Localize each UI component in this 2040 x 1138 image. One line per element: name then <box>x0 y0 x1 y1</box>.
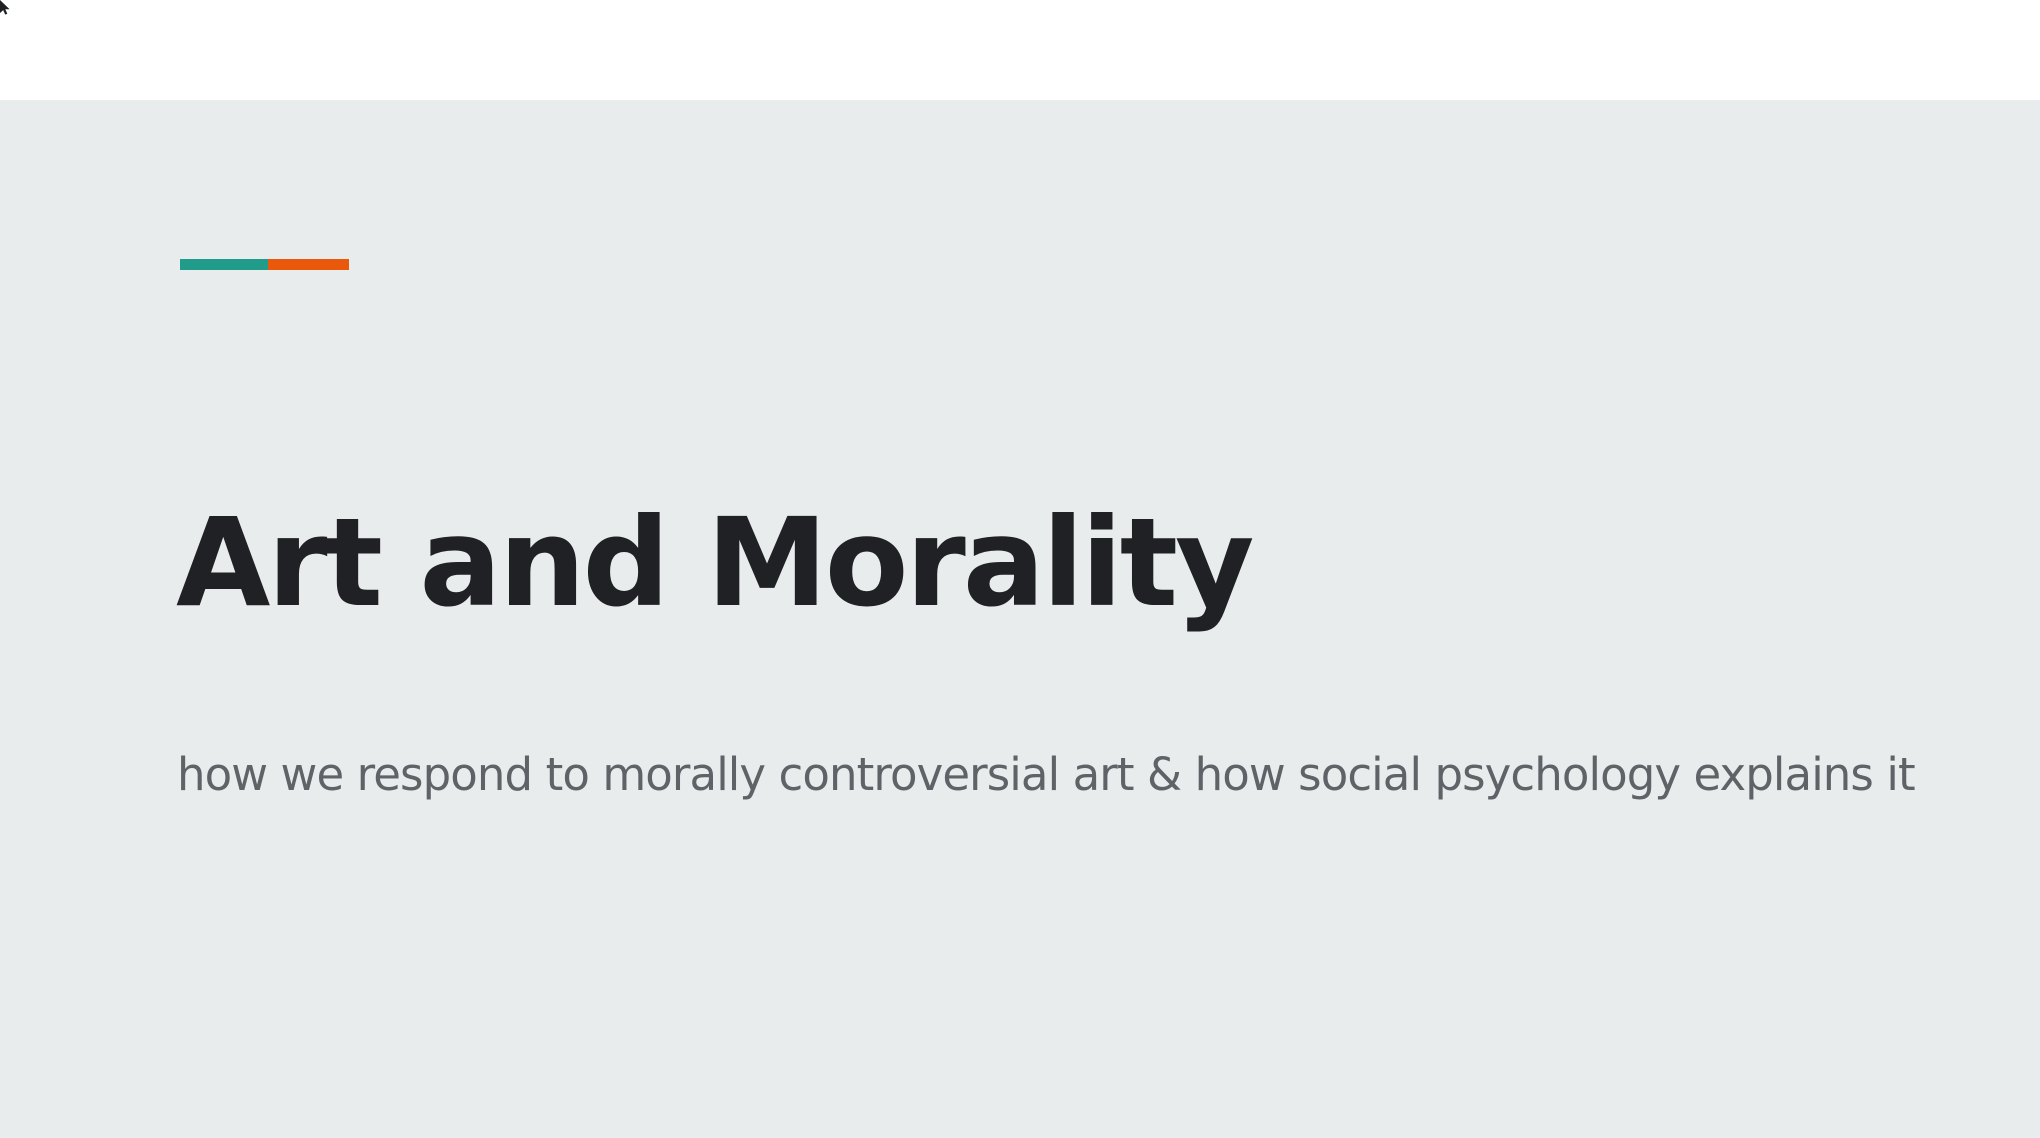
slide-canvas[interactable]: Art and Morality how we respond to moral… <box>0 100 2040 1138</box>
presentation-slide-viewer: Art and Morality how we respond to moral… <box>0 0 2040 1138</box>
accent-rule-secondary-segment <box>268 259 349 270</box>
app-chrome-bar <box>0 0 2040 100</box>
slide-title[interactable]: Art and Morality <box>176 501 1876 625</box>
slide-subtitle[interactable]: how we respond to morally controversial … <box>177 748 1967 803</box>
accent-rule-primary-segment <box>180 259 268 270</box>
accent-rule <box>180 259 349 270</box>
cursor-pointer-icon <box>0 0 11 15</box>
